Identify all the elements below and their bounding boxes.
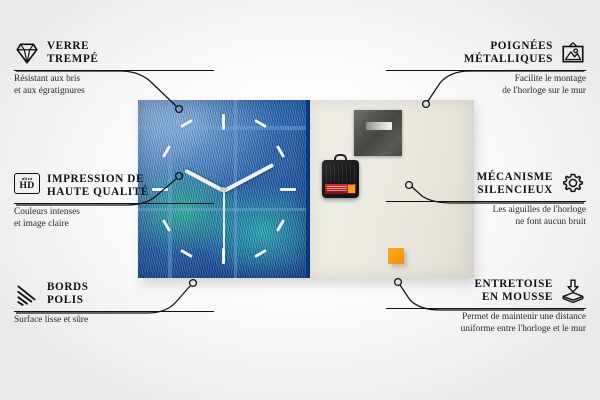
callout-title: VERRE TREMPÉ [47,40,98,67]
hour-marker [222,114,225,130]
callout-title: MÉCANISME SILENCIEUX [477,171,553,198]
hour-marker [254,249,267,258]
battery-label [327,186,347,191]
callout-subtitle-line1: Permet de maintenir une distance [386,312,586,324]
gear-icon [560,171,586,197]
hour-marker [180,249,193,258]
battery [325,184,356,194]
ultra-hd-icon: ultra HD [14,173,40,199]
picture-frame-hanger-icon [560,40,586,66]
hour-marker [276,219,285,232]
infographic-canvas: VERRE TREMPÉ Résistant aux bris et aux é… [0,0,600,400]
metal-hanger-plate [354,110,402,156]
battery-plus-terminal [348,185,355,193]
callout-poignees-metalliques[interactable]: POIGNÉES MÉTALLIQUES Facilite le montage… [386,40,586,97]
movement-ridges [326,165,355,182]
callout-subtitle-line2: et aux égratignures [14,86,214,98]
center-pin [221,187,226,192]
diamond-icon [14,40,40,66]
polished-edge-icon [14,281,40,307]
callout-divider [14,70,214,71]
clock-movement [322,160,359,198]
movement-hanger-loop [334,154,347,163]
callout-divider [14,203,214,204]
callout-mecanisme-silencieux[interactable]: MÉCANISME SILENCIEUX Les aiguilles de l'… [386,171,586,228]
callout-subtitle-line1: Les aiguilles de l'horloge [386,205,586,217]
callout-verre-trempe[interactable]: VERRE TREMPÉ Résistant aux bris et aux é… [14,40,214,97]
second-hand [223,190,225,248]
callout-subtitle-line1: Couleurs intenses [14,207,214,219]
hour-marker [280,188,296,191]
callout-divider [386,70,586,71]
callout-subtitle-line2: de l'horloge sur le mur [386,86,586,98]
callout-entretoise-en-mousse[interactable]: ENTRETOISE EN MOUSSE Permet de maintenir… [386,278,586,335]
callout-subtitle-line2: et image claire [14,219,214,231]
callout-header: POIGNÉES MÉTALLIQUES [386,40,586,67]
callout-header: BORDS POLIS [14,281,214,308]
callout-divider [386,308,586,309]
hour-marker [222,248,225,264]
arrow-onto-pad-icon [560,278,586,304]
hour-marker [276,145,285,158]
callout-subtitle-line1: Surface lisse et sûre [14,315,214,327]
callout-title: ENTRETOISE EN MOUSSE [474,278,553,305]
callout-title: IMPRESSION DE HAUTE QUALITÉ [47,173,149,200]
callout-divider [14,311,214,312]
callout-header: ENTRETOISE EN MOUSSE [386,278,586,305]
hanger-slot [366,122,392,130]
callout-subtitle-line2: uniforme entre l'horloge et le mur [386,324,586,336]
callout-header: ultra HD IMPRESSION DE HAUTE QUALITÉ [14,173,214,200]
callout-divider [386,201,586,202]
callout-title: BORDS POLIS [47,281,89,308]
callout-header: MÉCANISME SILENCIEUX [386,171,586,198]
callout-title: POIGNÉES MÉTALLIQUES [464,40,553,67]
callout-impression-haute-qualite[interactable]: ultra HD IMPRESSION DE HAUTE QUALITÉ Cou… [14,173,214,230]
foam-spacer [388,248,404,264]
minute-hand [223,163,274,193]
callout-subtitle-line1: Facilite le montage [386,74,586,86]
ultra-hd-large-text: HD [20,181,35,191]
callout-header: VERRE TREMPÉ [14,40,214,67]
callout-subtitle-line2: ne font aucun bruit [386,217,586,229]
callout-subtitle-line1: Résistant aux bris [14,74,214,86]
callout-bords-polis[interactable]: BORDS POLIS Surface lisse et sûre [14,281,214,327]
